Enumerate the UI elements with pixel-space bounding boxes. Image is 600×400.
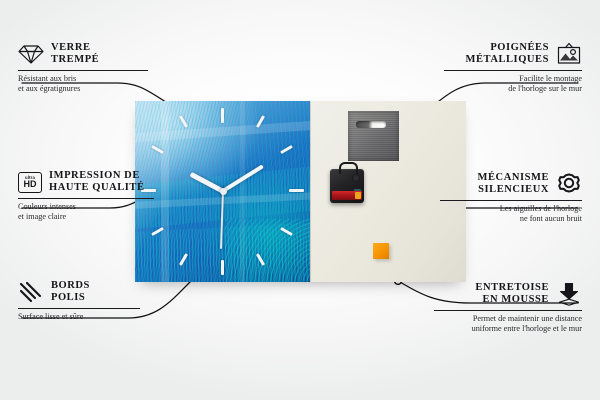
ultra-hd-icon: ultra HD <box>18 172 42 193</box>
callout-divider <box>18 70 148 71</box>
tick-mark <box>221 260 224 275</box>
callout-entretoise-en-mousse[interactable]: ENTRETOISE EN MOUSSE Permet de maintenir… <box>428 282 582 334</box>
callout-title: MÉCANISME SILENCIEUX <box>478 172 549 197</box>
callout-header: POIGNÉES MÉTALLIQUES <box>438 42 582 67</box>
callout-bords-polis[interactable]: BORDS POLIS Surface lisse et sûre <box>18 280 146 322</box>
infographic-canvas: VERRE TREMPÉ Résistant aux bris et aux é… <box>0 0 600 400</box>
callout-divider <box>434 310 582 311</box>
clock-face <box>135 101 310 282</box>
callout-header: ENTRETOISE EN MOUSSE <box>428 282 582 307</box>
clock-hour-hand <box>190 172 224 193</box>
mechanism-hanging-loop <box>339 162 358 174</box>
callout-subtitle: Résistant aux bris et aux égratignures <box>18 74 158 94</box>
clock-second-hand <box>220 191 224 249</box>
tick-mark <box>221 108 224 123</box>
callout-subtitle: Facilite le montage de l'horloge sur le … <box>438 74 582 94</box>
callout-divider <box>18 308 140 309</box>
tick-mark <box>280 227 293 236</box>
tick-mark <box>179 115 188 128</box>
tick-mark <box>280 145 293 154</box>
clock-center-cap <box>220 188 227 195</box>
ultra-hd-icon-big-label: HD <box>24 180 37 189</box>
callout-title: IMPRESSION DE HAUTE QUALITÉ <box>49 170 145 195</box>
callout-title: POIGNÉES MÉTALLIQUES <box>466 42 549 67</box>
callout-poignees-metalliques[interactable]: POIGNÉES MÉTALLIQUES Facilite le montage… <box>438 42 582 94</box>
clock-front-glass-panel <box>135 101 310 282</box>
down-arrow-spacer-icon <box>556 282 582 306</box>
callout-header: ultra HD IMPRESSION DE HAUTE QUALITÉ <box>18 170 160 195</box>
callout-subtitle: Couleurs intenses et image claire <box>18 202 160 222</box>
clock-minute-hand <box>222 164 264 192</box>
polished-edges-icon <box>18 281 44 303</box>
callout-header: VERRE TREMPÉ <box>18 42 158 67</box>
tick-mark <box>256 115 265 128</box>
callout-divider <box>18 198 154 199</box>
callout-subtitle: Surface lisse et sûre <box>18 312 146 322</box>
callout-impression-haute-qualite[interactable]: ultra HD IMPRESSION DE HAUTE QUALITÉ Cou… <box>18 170 160 222</box>
callout-header: MÉCANISME SILENCIEUX <box>434 172 582 197</box>
tick-mark <box>256 253 265 266</box>
diamond-icon <box>18 43 44 65</box>
picture-hanger-icon <box>556 42 582 66</box>
battery-terminal <box>355 192 361 199</box>
bracket-keyhole-slot <box>356 121 386 128</box>
metal-hanger-bracket <box>348 111 399 161</box>
callout-mecanisme-silencieux[interactable]: MÉCANISME SILENCIEUX Les aiguilles de l'… <box>434 172 582 224</box>
product-image <box>135 101 465 282</box>
callout-title: BORDS POLIS <box>51 280 90 305</box>
tick-mark <box>151 145 164 154</box>
callout-header: BORDS POLIS <box>18 280 146 305</box>
tick-mark <box>151 227 164 236</box>
tick-mark <box>179 253 188 266</box>
battery <box>332 191 362 200</box>
callout-verre-trempe[interactable]: VERRE TREMPÉ Résistant aux bris et aux é… <box>18 42 158 94</box>
callout-divider <box>440 200 582 201</box>
callout-subtitle: Permet de maintenir une distance uniform… <box>428 314 582 334</box>
callout-subtitle: Les aiguilles de l'horloge ne font aucun… <box>434 204 582 224</box>
callout-title: VERRE TREMPÉ <box>51 42 99 67</box>
tick-mark <box>289 189 304 192</box>
callout-divider <box>444 70 582 71</box>
mechanism-dial <box>352 174 360 182</box>
clock-mechanism <box>330 169 364 203</box>
callout-title: ENTRETOISE EN MOUSSE <box>475 282 549 307</box>
foam-spacer <box>373 243 389 259</box>
gear-icon <box>556 172 582 196</box>
